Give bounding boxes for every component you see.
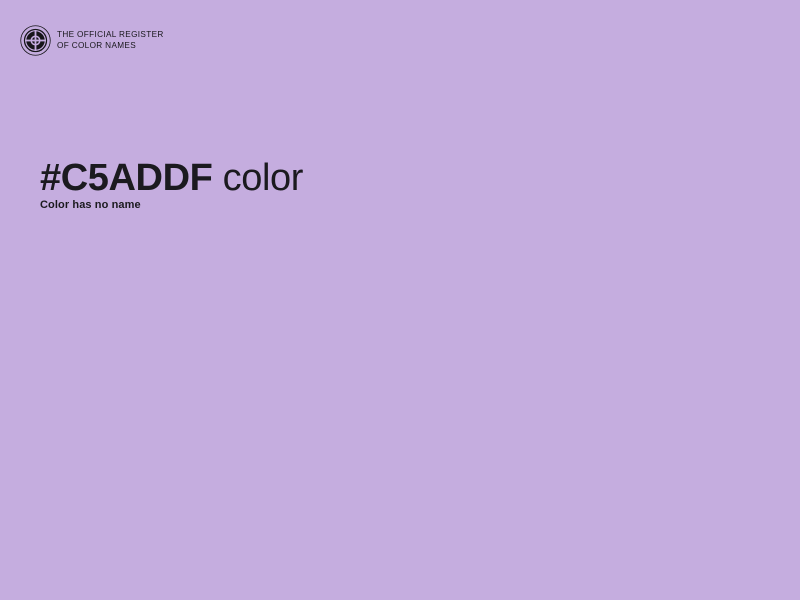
official-register-seal-icon (20, 25, 51, 56)
brand-line-2: OF COLOR NAMES (57, 41, 164, 52)
brand-name: THE OFFICIAL REGISTER OF COLOR NAMES (57, 30, 164, 51)
page-title: #C5ADDF color (40, 155, 303, 201)
color-name-status: Color has no name (40, 198, 141, 213)
brand-line-1: THE OFFICIAL REGISTER (57, 30, 164, 41)
title-suffix: color (223, 157, 303, 199)
color-page: THE OFFICIAL REGISTER OF COLOR NAMES #C5… (0, 0, 800, 600)
brand-lockup: THE OFFICIAL REGISTER OF COLOR NAMES (20, 25, 164, 56)
hex-code: #C5ADDF (40, 157, 212, 199)
